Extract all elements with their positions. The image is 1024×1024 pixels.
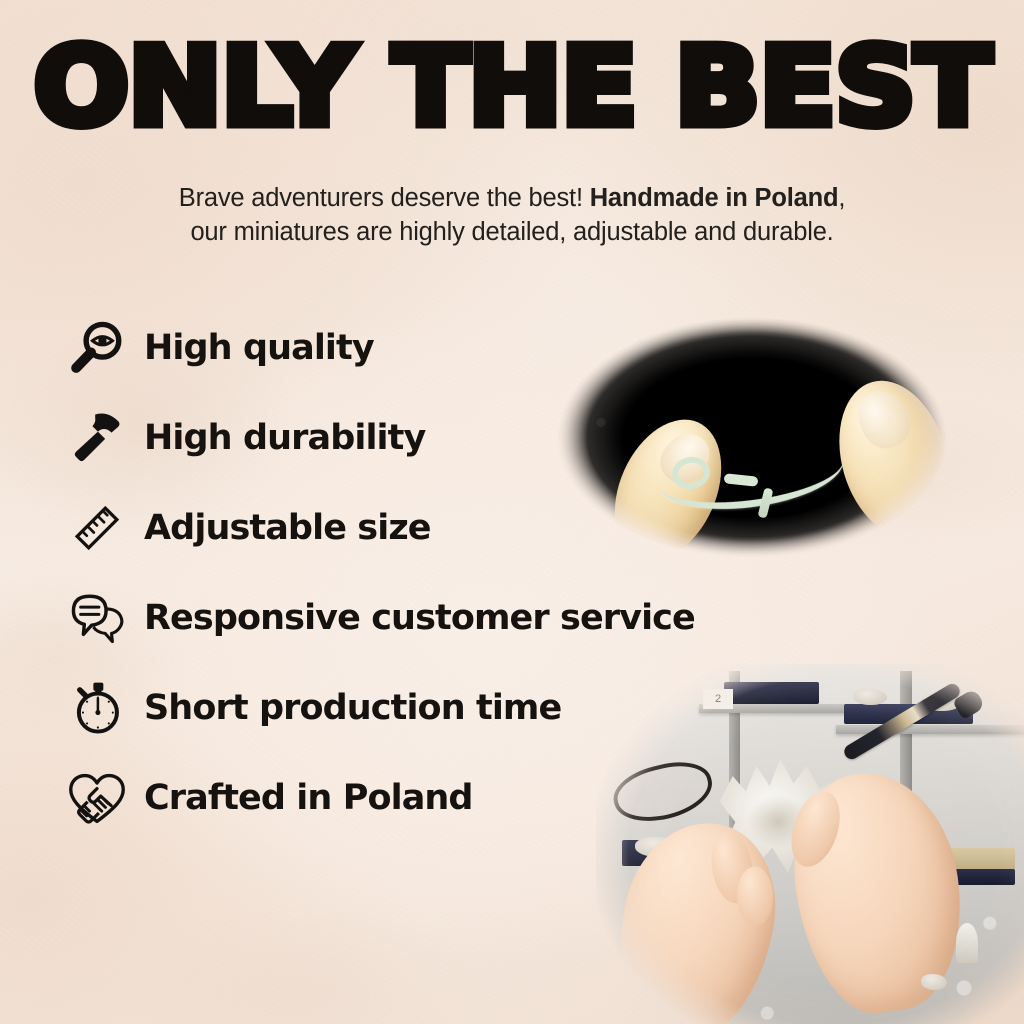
shelf-board-right	[836, 725, 1024, 734]
feature-item-high-quality: High quality	[58, 303, 758, 393]
subtitle-line1-bold: Handmade in Poland	[590, 184, 839, 212]
subtitle-line1-suffix: ,	[838, 184, 845, 212]
finger-middle-left	[736, 866, 773, 927]
speech-bubbles-icon	[58, 589, 136, 647]
feature-label: Adjustable size	[144, 508, 431, 548]
subtitle-line1-prefix: Brave adventurers deserve the best!	[179, 184, 590, 212]
fingernail-right	[849, 382, 918, 455]
miniature-on-bench	[956, 923, 978, 963]
magnifier-eye-icon	[58, 319, 136, 377]
hammer-icon	[58, 409, 136, 467]
feature-item-adjustable-size: Adjustable size	[58, 483, 758, 573]
feature-label: High quality	[144, 328, 374, 368]
ruler-icon	[58, 499, 136, 557]
stopwatch-icon	[58, 679, 136, 737]
subtitle-line2: our miniatures are highly detailed, adju…	[190, 218, 833, 246]
feature-label: Crafted in Poland	[144, 778, 473, 818]
feature-item-high-durability: High durability	[58, 393, 758, 483]
feature-label: High durability	[144, 418, 425, 458]
subtitle: Brave adventurers deserve the best! Hand…	[96, 182, 928, 250]
feature-label: Responsive customer service	[144, 598, 695, 638]
feature-item-crafted-in-poland: Crafted in Poland	[58, 753, 758, 843]
feature-list: High quality High durability	[58, 303, 758, 843]
handshake-heart-icon	[58, 768, 136, 828]
page-title: ONLY THE BEST	[0, 34, 1024, 142]
feature-label: Short production time	[144, 688, 561, 728]
feature-item-production-time: Short production time	[58, 663, 758, 753]
feature-item-customer-service: Responsive customer service	[58, 573, 758, 663]
sprue-cluster-a	[853, 689, 887, 705]
promo-poster: 2 ONLY THE BEST Brave adventurers deserv…	[0, 0, 1024, 1024]
sprue-cluster-d	[921, 974, 947, 990]
